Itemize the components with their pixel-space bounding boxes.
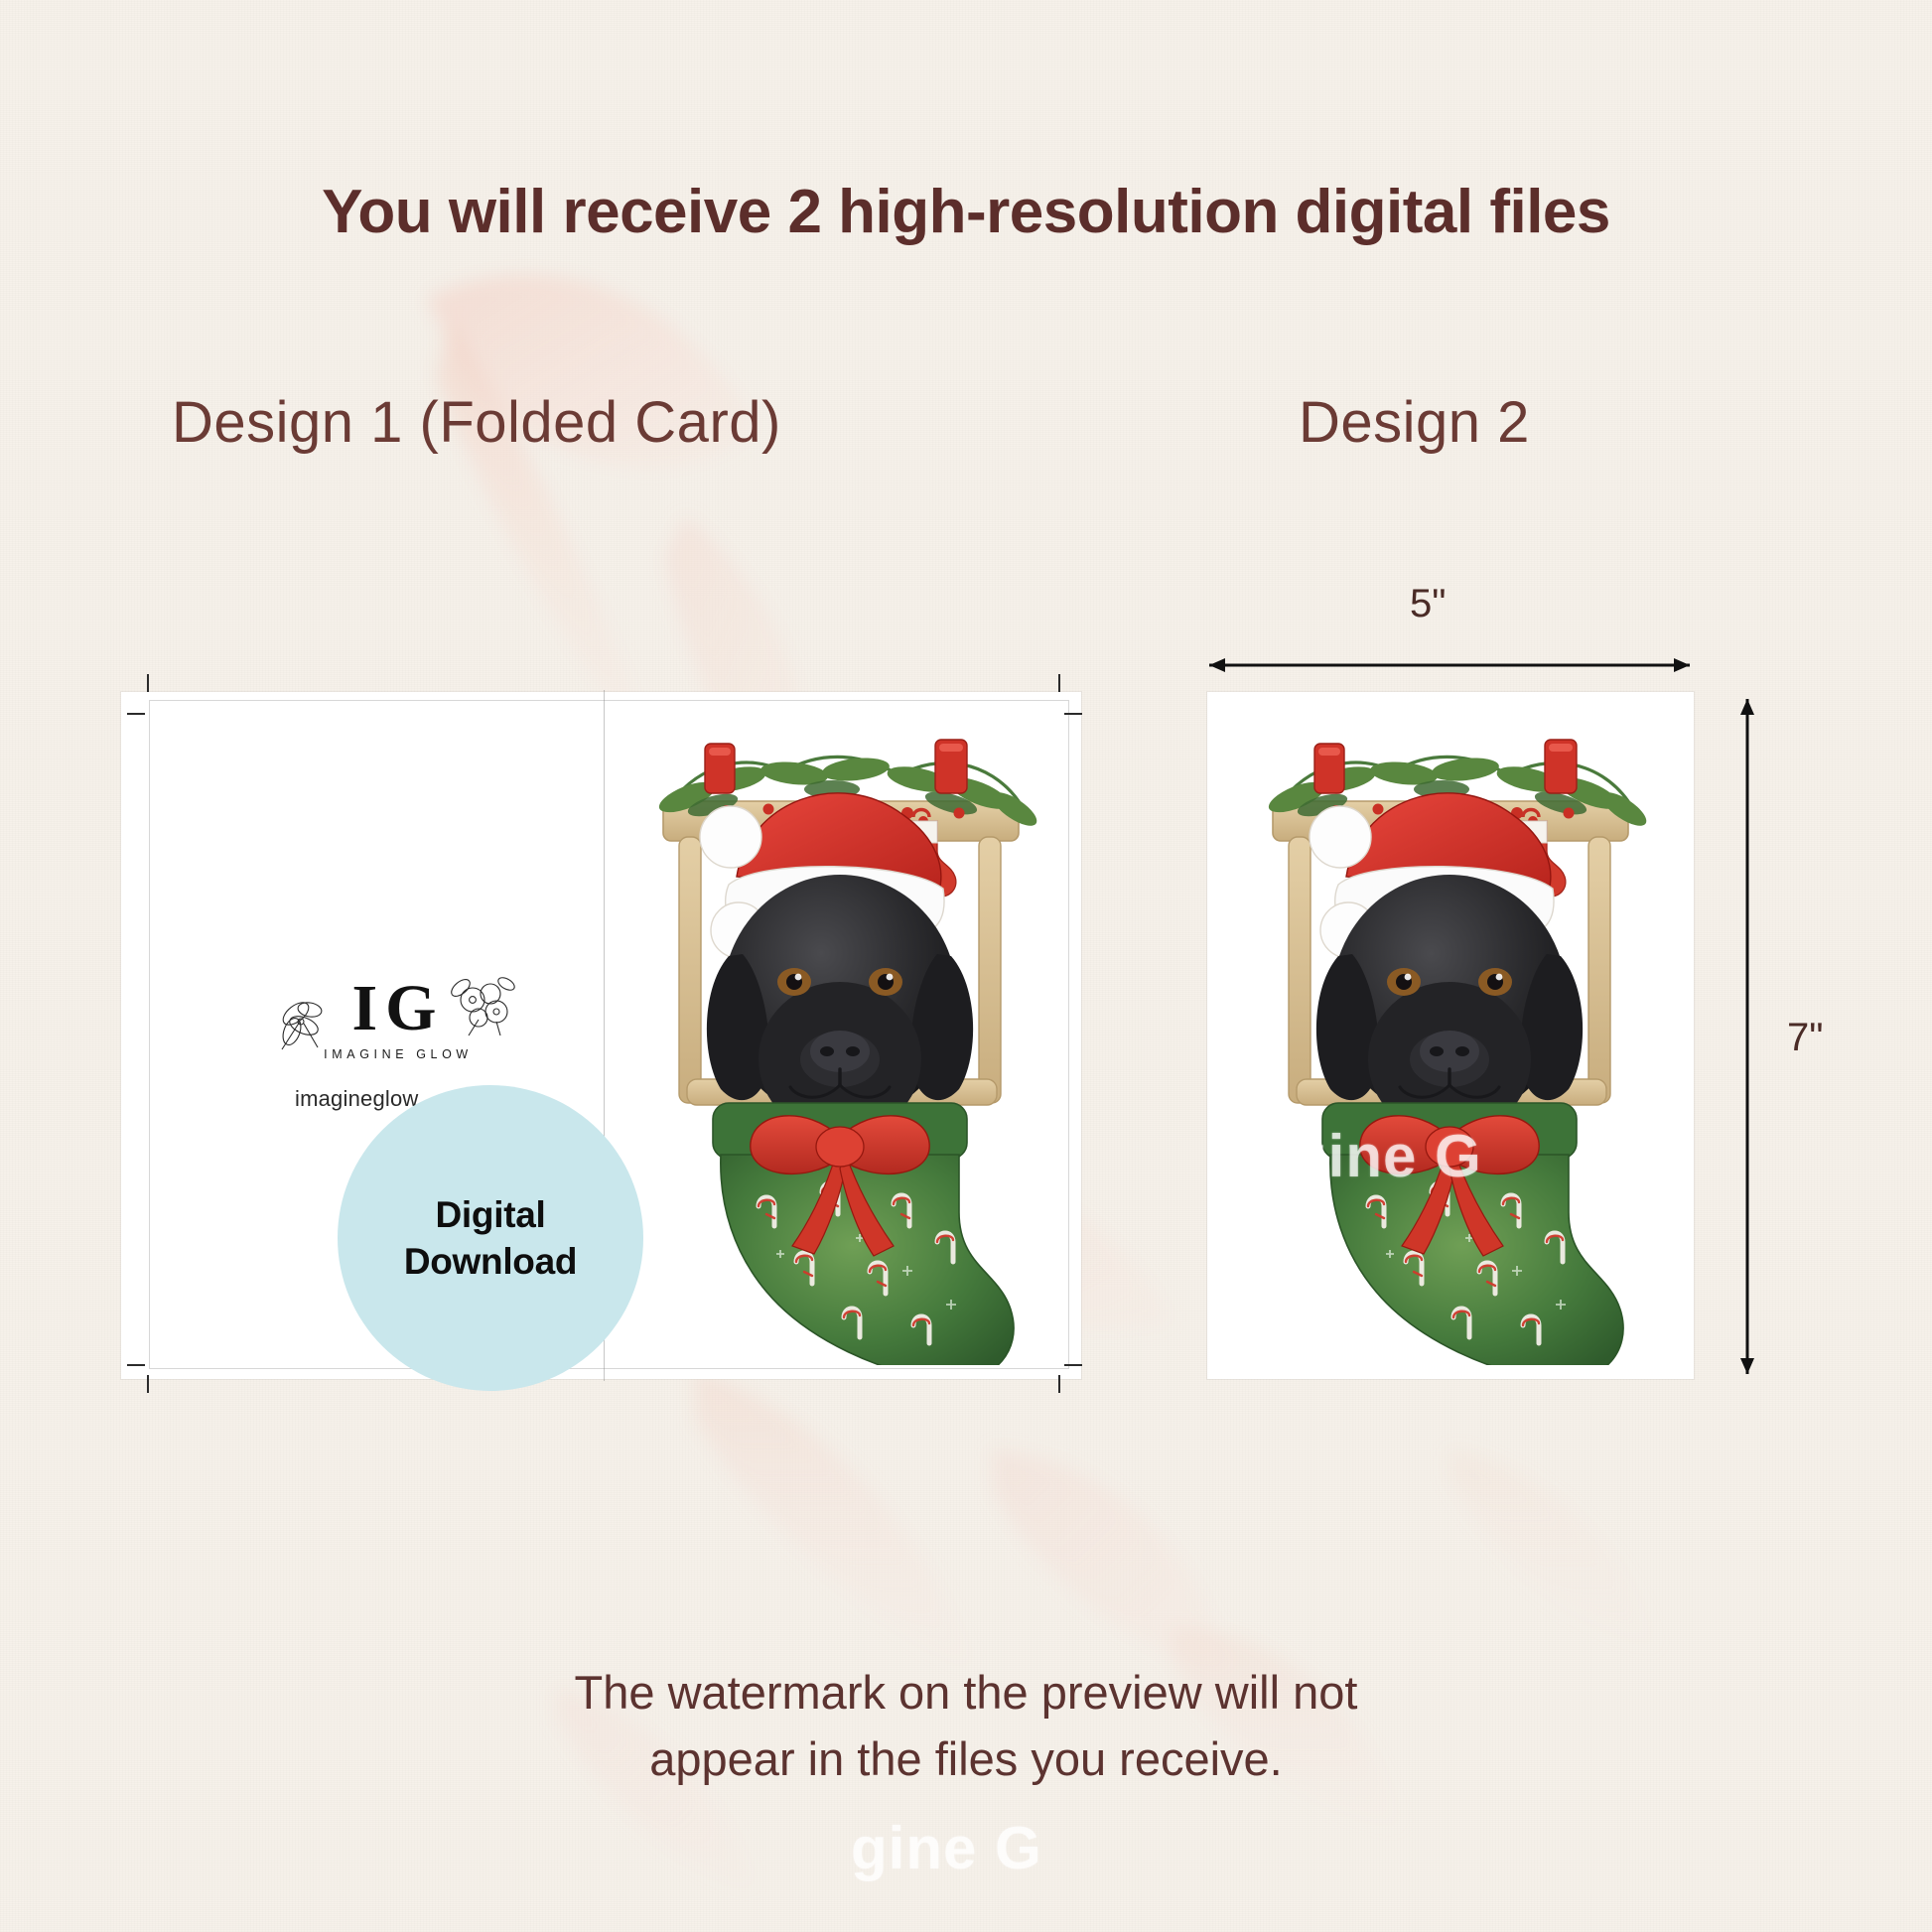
width-dimension-arrow — [1191, 650, 1708, 680]
crop-mark-top-right-h — [1064, 713, 1082, 715]
badge-line-2: Download — [404, 1238, 577, 1285]
height-dimension-label: 7" — [1787, 1016, 1823, 1060]
badge-line-1: Digital — [436, 1191, 546, 1238]
design-2-artwork — [1219, 710, 1682, 1365]
page-title: You will receive 2 high-resolution digit… — [0, 177, 1932, 247]
crop-mark-bottom-right-h — [1064, 1364, 1082, 1366]
design-1-label: Design 1 (Folded Card) — [172, 389, 781, 456]
crop-mark-top-right-v — [1058, 674, 1060, 692]
footer-line-2: appear in the files you receive. — [0, 1726, 1932, 1793]
design-1-artwork — [610, 710, 1072, 1365]
footer-line-1: The watermark on the preview will not — [0, 1660, 1932, 1726]
design-2-label: Design 2 — [1299, 389, 1530, 456]
design-2-flat-card-preview[interactable]: gine G — [1207, 692, 1694, 1379]
crop-mark-bottom-left-v — [147, 1375, 149, 1393]
crop-mark-top-left-h — [127, 713, 145, 715]
digital-download-badge: Digital Download — [338, 1085, 643, 1391]
crop-mark-bottom-right-v — [1058, 1375, 1060, 1393]
footer-note: The watermark on the preview will not ap… — [0, 1660, 1932, 1792]
flower-left-icon — [274, 984, 338, 1055]
flower-right-icon — [439, 970, 518, 1039]
crop-mark-top-left-v — [147, 674, 149, 692]
crop-mark-bottom-left-h — [127, 1364, 145, 1366]
width-dimension-label: 5" — [1410, 582, 1446, 626]
brand-logo: IG IMAGINE GLOW — [304, 978, 492, 1061]
logo-url: imagineglow — [295, 1086, 419, 1112]
height-dimension-arrow — [1732, 683, 1762, 1390]
